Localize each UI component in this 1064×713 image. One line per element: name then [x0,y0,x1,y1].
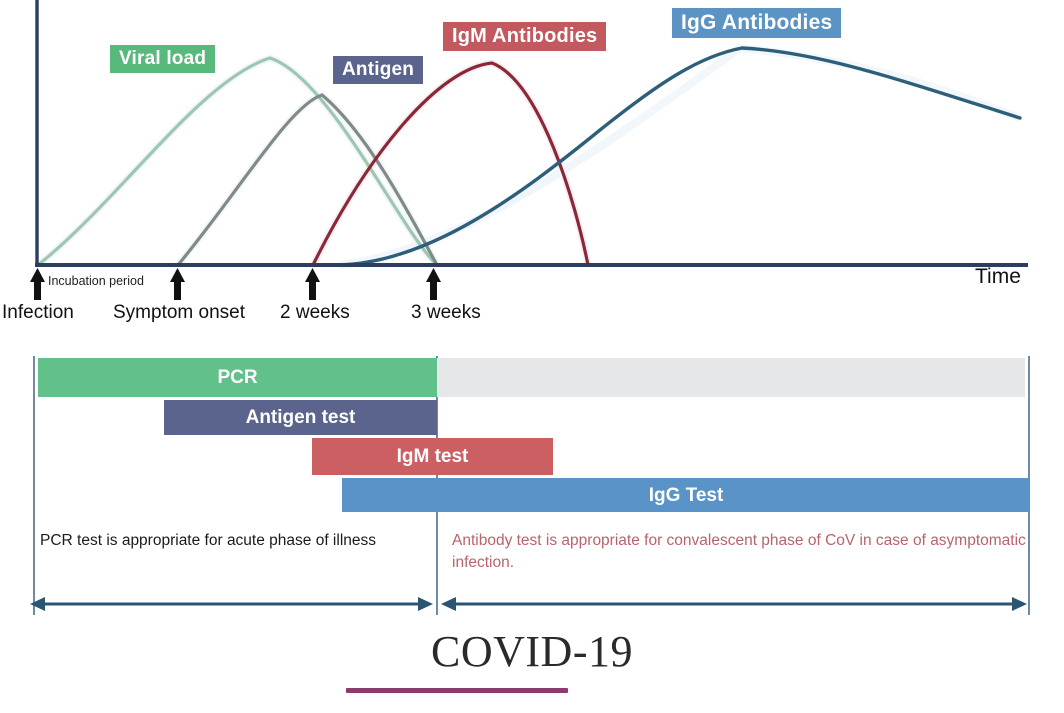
x-tick-label-2-weeks: 2 weeks [280,303,350,322]
acute-phase-span-arrow [30,597,433,611]
convalescent-phase-span-arrow [441,597,1027,611]
bar-pcr-test[interactable]: PCR [38,358,437,397]
x-tick-label-symptom-onset: Symptom onset [113,303,245,322]
pcr-row-inactive-band [437,358,1025,397]
tick-arrow-3-weeks [426,268,441,300]
covid19-diagnostic-infographic: Viral load Antigen IgM Antibodies IgG An… [0,0,1064,713]
bar-antigen-test[interactable]: Antigen test [164,400,437,435]
x-axis-title-time: Time [975,266,1021,287]
tick-arrow-symptom-onset [170,268,185,300]
page-title-covid19: COVID-19 [0,630,1064,674]
annotation-incubation-period: Incubation period [48,275,144,288]
phase-span-arrows [30,597,1027,611]
note-convalescent-phase: Antibody test is appropriate for convale… [452,530,1027,575]
footer: COVID-19 [0,630,1064,674]
antibody-kinetics-chart: Viral load Antigen IgM Antibodies IgG An… [0,0,1064,340]
title-underline-rule [346,688,568,693]
x-tick-label-infection: Infection [2,303,74,322]
curve-label-antigen: Antigen [333,56,423,84]
curve-antigen [178,95,437,265]
curve-label-viral-load: Viral load [110,45,215,73]
bar-igg-test[interactable]: IgG Test [342,478,1030,512]
curve-label-igg-antibodies: IgG Antibodies [672,8,841,38]
test-window-panel: PCR Antigen test IgM test IgG Test PCR t… [0,340,1064,630]
note-acute-phase: PCR test is appropriate for acute phase … [40,530,425,552]
x-tick-label-3-weeks: 3 weeks [411,303,481,322]
curve-halos [38,48,1020,265]
bar-igm-test[interactable]: IgM test [312,438,553,475]
tick-arrow-infection [30,268,45,300]
tick-arrow-2-weeks [305,268,320,300]
curve-label-igm-antibodies: IgM Antibodies [443,22,606,51]
